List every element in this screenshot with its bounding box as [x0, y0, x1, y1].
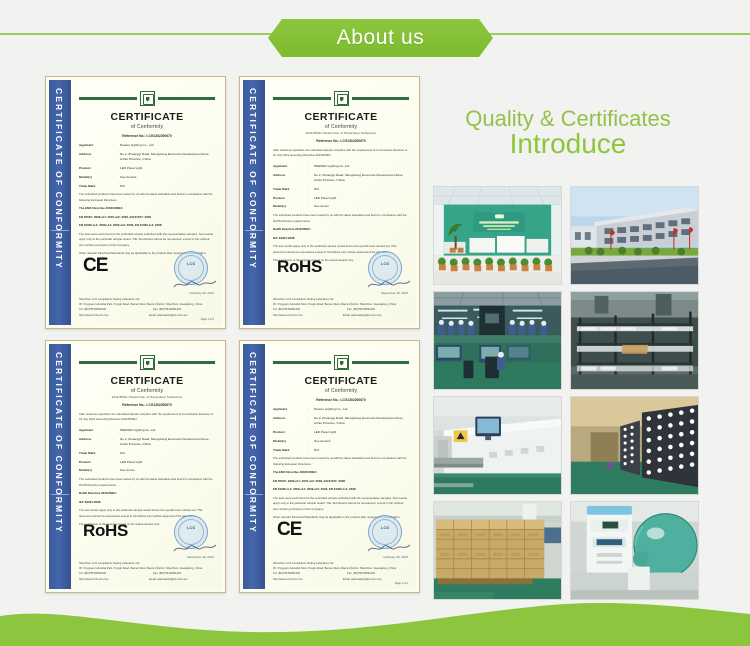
certification-logo-icon: [140, 355, 155, 370]
field-value: N/A: [120, 451, 215, 456]
table-row: Trade Mark : N/A: [79, 451, 215, 456]
certificate-reference: Reference No.: LCG1302200670: [79, 134, 215, 138]
certificate-spine-tick: [51, 230, 69, 231]
photo-led-burn-in-panels[interactable]: [570, 396, 699, 495]
field-value: LED Panel Light: [120, 166, 215, 171]
table-row: Applicant : HEEKER Lighting Co.,Ltd.: [79, 428, 215, 433]
table-row: Applicant : HEEKER Lighting Co.,Ltd.: [273, 164, 409, 169]
field-value: N/A: [314, 187, 409, 192]
certificate-spine-label: CERTIFICATE OF CONFORMITY: [54, 88, 64, 270]
header-rule-right: [352, 361, 410, 364]
table-row: Product : LED Panel Light: [273, 430, 409, 435]
certificate-note: The submitted products have been tested …: [273, 213, 409, 224]
field-colon: :: [307, 164, 314, 169]
certificate-directive-line: EN 61000-3-2: 2006+A1: 2009+A2: 2009, EN…: [79, 223, 215, 229]
field-label: Applicant: [273, 164, 307, 169]
table-row: Address : No.2, Zhuangyi Road, Mengcheng…: [79, 152, 215, 163]
table-row: Product : LED Panel Light: [79, 166, 215, 171]
certificate-title: CERTIFICATE: [273, 375, 409, 387]
field-label: Model(s): [273, 439, 307, 444]
field-label: Address: [79, 152, 113, 163]
photo-aging-test-racks[interactable]: [570, 291, 699, 390]
field-value: LED Panel Light: [314, 430, 409, 435]
field-label: Applicant: [79, 143, 113, 148]
certificate-directive-line: EN 55015: 2006+A1: 2007+A2: 2009, EN 615…: [273, 479, 409, 485]
field-colon: :: [307, 204, 314, 209]
seal-date: September 20, 2013: [187, 555, 214, 559]
certificate-spine-tick: [51, 494, 69, 495]
certificate-spine-tick: [245, 230, 263, 231]
table-row: Address : No.2, Zhuangyi Road, Mengcheng…: [273, 416, 409, 427]
field-value: No.2, Zhuangyi Road, Mengcheng Economic …: [314, 173, 409, 184]
certificate-footer: Shenzhen LCS Compliance Testing Laborato…: [273, 297, 408, 318]
table-row: Model(s) : See Annex1: [273, 439, 409, 444]
certificate-intro: After tested as specified, the submitted…: [79, 412, 215, 423]
field-value: No.2, Zhuangyi Road, Mengcheng Economic …: [120, 152, 215, 163]
certificate-note-secondary: The tests were performed on the controll…: [79, 232, 215, 248]
certificate-subtitle: of Conformity: [273, 124, 409, 130]
certificate-footer: Shenzhen LCS Compliance Testing Laborato…: [79, 297, 214, 318]
field-colon: :: [307, 407, 314, 412]
certificate-spine: CERTIFICATE OF CONFORMITY: [49, 344, 71, 589]
certificate-reference: Reference No.: LCG1302200670: [273, 139, 409, 143]
field-colon: :: [113, 468, 120, 473]
field-value: HEEKER Lighting Co.,Ltd.: [314, 164, 409, 169]
page-title-line1: Quality & Certificates: [432, 108, 704, 130]
certification-logo-icon: [334, 355, 349, 370]
certificate-spine-label: CERTIFICATE OF CONFORMITY: [54, 352, 64, 534]
field-colon: :: [113, 166, 120, 171]
field-colon: :: [307, 416, 314, 427]
certificate-subtitle: of Conformity: [273, 388, 409, 394]
certificate-body: CERTIFICATE of Conformity 2011/65/EU Res…: [265, 80, 416, 325]
certificate-directive-line: RoHS Directive 2011/65/EU: [79, 491, 215, 497]
certification-logo-icon: [140, 91, 155, 106]
field-value: HEEKER Lighting Co.,Ltd.: [120, 428, 215, 433]
field-value: No.2, Zhuangyi Road, Mengcheng Economic …: [314, 416, 409, 427]
field-colon: :: [113, 184, 120, 189]
field-colon: :: [113, 451, 120, 456]
field-value: LED Panel Light: [314, 196, 409, 201]
certificate-fields: Applicant : Heeker Lighting Co., Ltd. Ad…: [79, 143, 215, 189]
certificate-subtitle-secondary: 2011/65/EU Restriction of Hazardous Subs…: [273, 131, 409, 135]
certificate-note: The submitted products have been tested …: [273, 456, 409, 467]
field-value: LED Panel Light: [120, 460, 215, 465]
field-label: Model(s): [79, 468, 113, 473]
field-label: Product: [273, 196, 307, 201]
certificate-spine: CERTIFICATE OF CONFORMITY: [243, 344, 265, 589]
bottom-wave-decoration: [0, 582, 750, 646]
table-row: Trade Mark : N/A: [79, 184, 215, 189]
photo-reception-lobby[interactable]: [433, 186, 562, 285]
certificate-grid: CERTIFICATE OF CONFORMITY CERTIFICATE of…: [45, 76, 420, 596]
field-label: Trade Mark: [79, 184, 113, 189]
certificate-directive-line: EN 55015: 2006+A1: 2007+A2: 2009, EN 615…: [79, 215, 215, 221]
field-value: See Annex1: [120, 175, 215, 180]
certificate-note-secondary: The tests were performed on the controll…: [273, 496, 409, 512]
certificate-fields: Applicant : HEEKER Lighting Co.,Ltd. Add…: [79, 428, 215, 474]
certification-logo-icon: [334, 91, 349, 106]
certificate-directive-line: IEC 62321:2008: [273, 236, 409, 242]
header-rule-left: [79, 97, 137, 100]
field-colon: :: [307, 430, 314, 435]
table-row: Model(s) : See Annex: [273, 204, 409, 209]
certificate-spine: CERTIFICATE OF CONFORMITY: [49, 80, 71, 325]
field-label: Model(s): [79, 175, 113, 180]
field-value: Heeker Lighting Co., Ltd.: [120, 143, 215, 148]
field-value: See Annex: [120, 468, 215, 473]
certificate-note: The submitted products have been tested …: [79, 192, 215, 203]
certificate-subtitle-secondary: 2011/65/EU Restriction of Hazardous Subs…: [79, 395, 215, 399]
certificate-directive-line: The EMC Directive 2004/108/EC: [79, 206, 215, 212]
header-rule-right: [158, 361, 216, 364]
certificate-header: [79, 355, 215, 370]
field-value: N/A: [314, 448, 409, 453]
certificate-body: CERTIFICATE of Conformity 2011/65/EU Res…: [71, 344, 222, 589]
table-row: Trade Mark : N/A: [273, 187, 409, 192]
field-value: See Annex: [314, 204, 409, 209]
signature-icon: [172, 277, 218, 291]
page-title-line2: Introduce: [432, 130, 704, 159]
table-row: Product : LED Panel Light: [273, 196, 409, 201]
field-label: Trade Mark: [273, 448, 307, 453]
seal-date: February 20, 2013: [383, 555, 408, 559]
signature-icon: [366, 541, 412, 555]
field-colon: :: [113, 143, 120, 148]
header-rule-right: [352, 97, 410, 100]
photo-factory-exterior[interactable]: [570, 186, 699, 285]
certificate-spine-tick: [245, 494, 263, 495]
table-row: Trade Mark : N/A: [273, 448, 409, 453]
field-label: Model(s): [273, 204, 307, 209]
certificate-card[interactable]: CERTIFICATE OF CONFORMITY CERTIFICATE of…: [45, 340, 226, 593]
ce-mark-icon: CE: [277, 519, 301, 541]
certificate-fields: Applicant : HEEKER Lighting Co.,Ltd. Add…: [273, 164, 409, 210]
about-us-banner-label: About us: [337, 26, 425, 50]
seal-date: February 20, 2013: [189, 291, 214, 295]
header-rule-right: [158, 97, 216, 100]
field-colon: :: [307, 187, 314, 192]
field-value: See Annex1: [314, 439, 409, 444]
certificate-title: CERTIFICATE: [273, 111, 409, 123]
rohs-mark-icon: RoHS: [83, 521, 128, 541]
signature-icon: [172, 541, 218, 555]
field-label: Address: [273, 173, 307, 184]
header-rule-left: [79, 361, 137, 364]
field-colon: :: [113, 428, 120, 433]
field-label: Product: [79, 460, 113, 465]
certificate-note: The submitted products have been tested …: [79, 477, 215, 488]
page-number: Page 1 of 2: [201, 318, 214, 321]
certificate-card[interactable]: CERTIFICATE OF CONFORMITY CERTIFICATE of…: [45, 76, 226, 329]
rohs-mark-icon: RoHS: [277, 257, 322, 277]
footer-website: http://www.LCS-cert.com: [273, 313, 329, 318]
certificate-header: [273, 91, 409, 106]
certificate-header: [79, 91, 215, 106]
photo-assembly-line[interactable]: [433, 291, 562, 390]
field-colon: :: [113, 152, 120, 163]
table-row: Applicant : Heeker Lighting Co., Ltd.: [79, 143, 215, 148]
field-value: Heeker Lighting Co., Ltd.: [314, 407, 409, 412]
certificate-spine: CERTIFICATE OF CONFORMITY: [243, 80, 265, 325]
field-label: Trade Mark: [273, 187, 307, 192]
header-rule-left: [273, 361, 331, 364]
about-us-banner: About us: [268, 19, 493, 57]
certificate-reference: Reference No.: LCG1302200670: [79, 403, 215, 407]
field-colon: :: [113, 460, 120, 465]
field-label: Address: [273, 416, 307, 427]
field-colon: :: [307, 196, 314, 201]
seal-date: September 20, 2013: [381, 291, 408, 295]
certificate-intro: After tested as specified, the submitted…: [273, 148, 409, 159]
field-label: Applicant: [79, 428, 113, 433]
field-label: Applicant: [273, 407, 307, 412]
certificate-card[interactable]: CERTIFICATE OF CONFORMITY CERTIFICATE of…: [239, 340, 420, 593]
field-value: N/A: [120, 184, 215, 189]
field-label: Product: [79, 166, 113, 171]
certificate-card[interactable]: CERTIFICATE OF CONFORMITY CERTIFICATE of…: [239, 76, 420, 329]
certificate-spine-label: CERTIFICATE OF CONFORMITY: [248, 88, 258, 270]
photo-smt-reflow-oven[interactable]: [433, 396, 562, 495]
certificate-directive-line: The EMC Directive 2004/108/EC: [273, 470, 409, 476]
field-colon: :: [113, 437, 120, 448]
signature-icon: [366, 277, 412, 291]
certificate-body: CERTIFICATE of Conformity Reference No.:…: [265, 344, 416, 589]
certificate-subtitle: of Conformity: [79, 124, 215, 130]
field-colon: :: [307, 448, 314, 453]
table-row: Address : No.2, Zhuangyi Road, Mengcheng…: [273, 173, 409, 184]
field-label: Product: [273, 430, 307, 435]
certificate-header: [273, 355, 409, 370]
certificate-directive-line: EN 61000-3-2: 2006+A1: 2009+A2: 2009, EN…: [273, 487, 409, 493]
field-colon: :: [307, 173, 314, 184]
certificate-title: CERTIFICATE: [79, 111, 215, 123]
certificate-footer: Shenzhen LCS Compliance Testing Laborato…: [273, 561, 408, 582]
factory-photo-grid: [433, 186, 703, 598]
field-label: Address: [79, 437, 113, 448]
field-colon: :: [113, 175, 120, 180]
table-row: Product : LED Panel Light: [79, 460, 215, 465]
table-row: Model(s) : See Annex: [79, 468, 215, 473]
footer-website: http://www.LCS-cert.com: [79, 313, 135, 318]
certificate-fields: Applicant : Heeker Lighting Co., Ltd. Ad…: [273, 407, 409, 453]
certificate-subtitle: of Conformity: [79, 388, 215, 394]
footer-email: Email: webmaster@lcs-cert.com: [343, 313, 408, 318]
certificate-spine-label: CERTIFICATE OF CONFORMITY: [248, 352, 258, 534]
certificate-title: CERTIFICATE: [79, 375, 215, 387]
certificate-reference: Reference No.: LCG1302200670: [273, 398, 409, 402]
field-colon: :: [307, 439, 314, 444]
field-label: Trade Mark: [79, 451, 113, 456]
certificate-body: CERTIFICATE of Conformity Reference No.:…: [71, 80, 222, 325]
table-row: Model(s) : See Annex1: [79, 175, 215, 180]
page-title: Quality & Certificates Introduce: [432, 108, 704, 159]
table-row: Address : No.2, Zhuangyi Road, Mengcheng…: [79, 437, 215, 448]
certificate-directive-line: IEC 62321:2008: [79, 500, 215, 506]
certificate-footer: Shenzhen LCS Compliance Testing Laborato…: [79, 561, 214, 582]
certificate-directive-line: RoHS Directive 2011/65/EU: [273, 227, 409, 233]
field-value: No.2, Zhuangyi Road, Mengcheng Economic …: [120, 437, 215, 448]
ce-mark-icon: CE: [83, 255, 107, 277]
header-rule-left: [273, 97, 331, 100]
table-row: Applicant : Heeker Lighting Co., Ltd.: [273, 407, 409, 412]
